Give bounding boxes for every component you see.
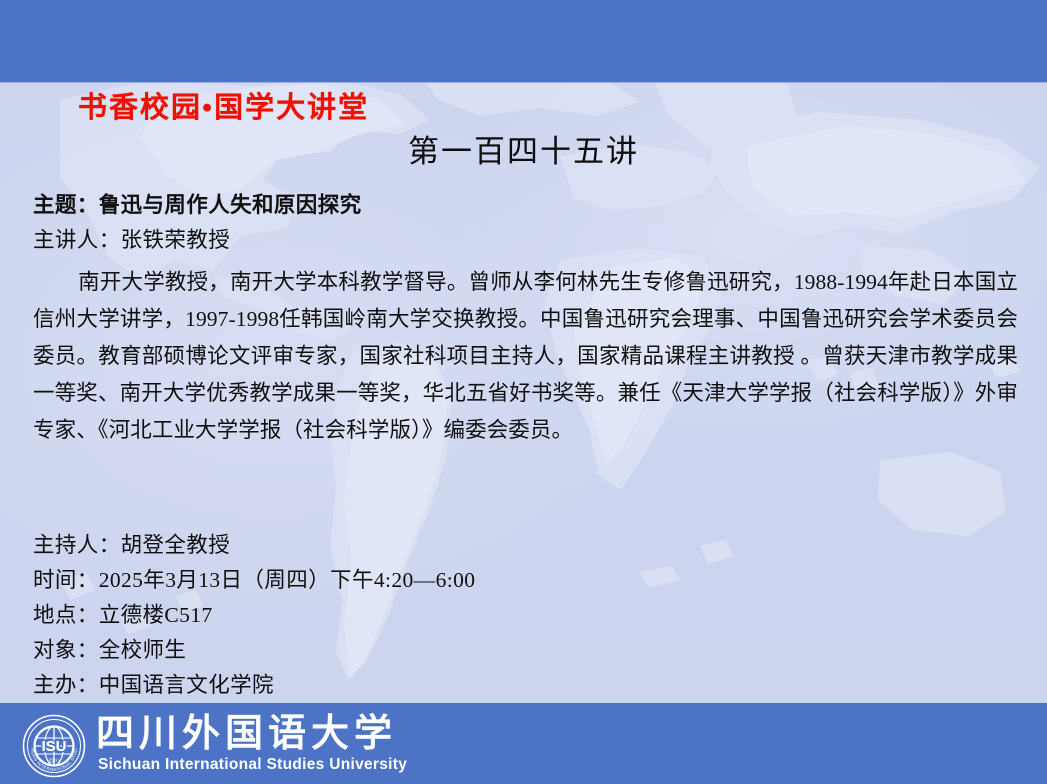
speaker-bio-paragraph: 南开大学教授，南开大学本科教学督导。曾师从李何林先生专修鲁迅研究，1988-19… bbox=[33, 264, 1018, 449]
brand-title: 书香校园•国学大讲堂 bbox=[78, 84, 369, 126]
svg-text:四川: 四川 bbox=[49, 759, 59, 765]
venue-line: 地点：立德楼C517 bbox=[33, 598, 475, 633]
host-line: 主持人：胡登全教授 bbox=[33, 528, 475, 563]
university-name-cn: 四川外国语大学 bbox=[96, 714, 397, 754]
lecture-poster-slide: 书香校园•国学大讲堂 第一百四十五讲 主题：鲁迅与周作人失和原因探究 主讲人：张… bbox=[0, 0, 1047, 784]
audience-line: 对象：全校师生 bbox=[33, 633, 475, 668]
lecture-number: 第一百四十五讲 bbox=[0, 126, 1047, 171]
event-details-block: 主持人：胡登全教授 时间：2025年3月13日（周四）下午4:20—6:00 地… bbox=[33, 528, 475, 703]
top-bar-divider bbox=[0, 82, 1047, 83]
isu-globe-seal-icon: ISU ISU 四川 四川外国语大学 SICHUAN INTERNATIONAL… bbox=[22, 714, 86, 778]
lecture-info-block: 主题：鲁迅与周作人失和原因探究 主讲人：张铁荣教授 南开大学教授，南开大学本科教… bbox=[33, 188, 1021, 449]
topic-line: 主题：鲁迅与周作人失和原因探究 bbox=[33, 188, 1021, 223]
university-name-en: Sichuan International Studies University bbox=[98, 756, 407, 774]
speaker-line: 主讲人：张铁荣教授 bbox=[33, 223, 1021, 258]
top-banner-bar bbox=[0, 0, 1047, 82]
organizer-line: 主办：中国语言文化学院 bbox=[33, 668, 475, 703]
svg-text:ISU: ISU bbox=[41, 738, 66, 755]
time-line: 时间：2025年3月13日（周四）下午4:20—6:00 bbox=[33, 563, 475, 598]
